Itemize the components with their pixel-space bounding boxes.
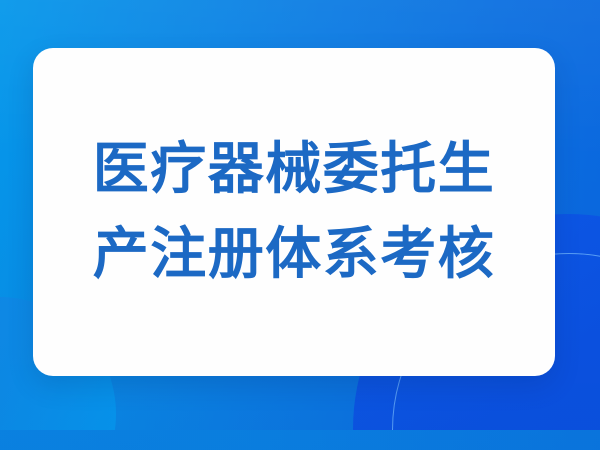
poster-canvas: 医疗器械委托生 产注册体系考核 [0,0,600,450]
page-title-line-1: 医疗器械委托生 [93,127,496,212]
bottom-accent-band [0,430,600,450]
page-title-line-2: 产注册体系考核 [93,212,496,297]
title-card: 医疗器械委托生 产注册体系考核 [33,48,555,376]
page-title: 医疗器械委托生 产注册体系考核 [79,127,510,297]
